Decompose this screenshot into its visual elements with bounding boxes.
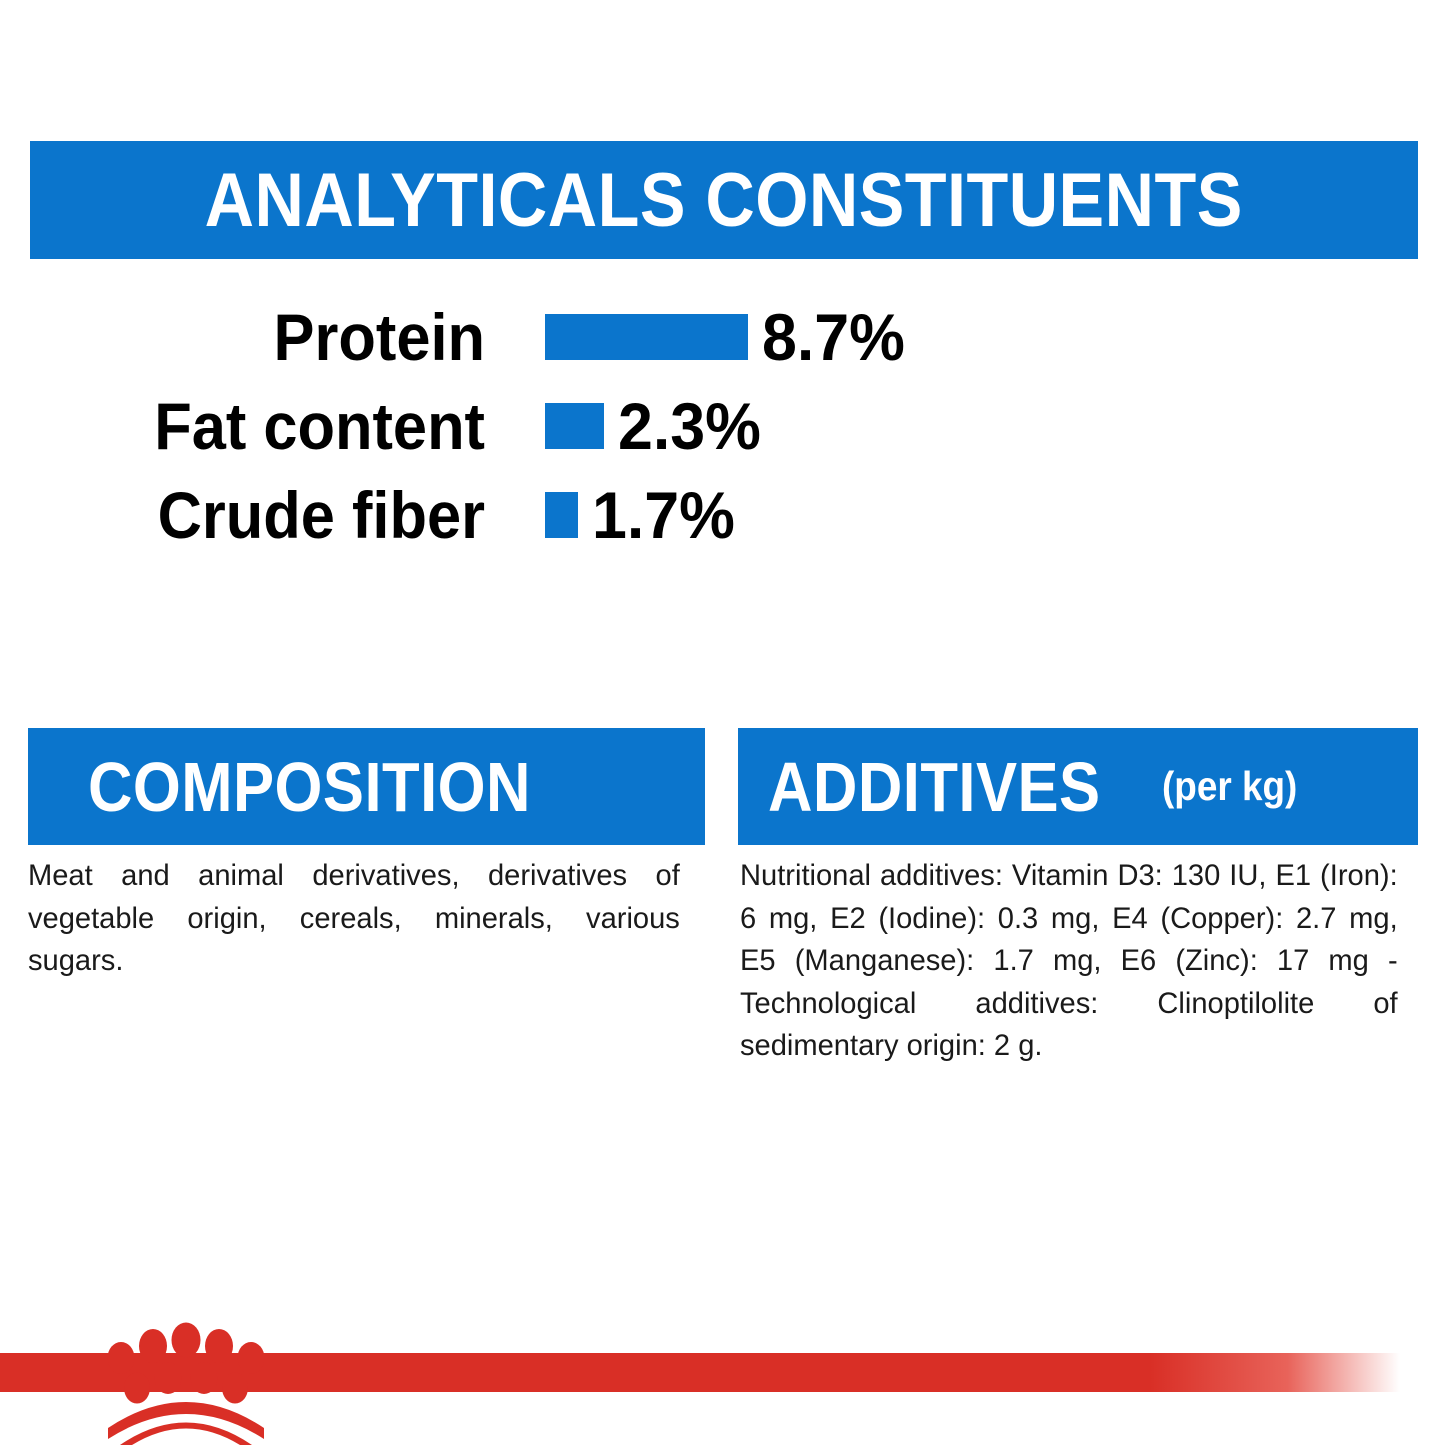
- composition-heading-text: COMPOSITION: [88, 747, 531, 827]
- analyticals-heading-text: ANALYTICALS CONSTITUENTS: [205, 157, 1243, 244]
- composition-body-text: Meat and animal derivatives, derivatives…: [28, 855, 680, 983]
- composition-header: COMPOSITION: [28, 728, 705, 845]
- constituent-bar: [545, 403, 604, 449]
- constituent-bar-group: 2.3%: [545, 393, 768, 459]
- constituent-bar: [545, 492, 578, 538]
- footer-rule-fade: [1150, 1353, 1400, 1392]
- constituent-row-fat-content: Fat content 2.3%: [0, 381, 1445, 470]
- royal-canin-crown-icon: [96, 1320, 276, 1445]
- constituent-value: 2.3%: [618, 393, 761, 459]
- constituent-value: 1.7%: [592, 482, 735, 548]
- analyticals-constituents-header: ANALYTICALS CONSTITUENTS: [30, 141, 1418, 259]
- constituent-row-crude-fiber: Crude fiber 1.7%: [0, 470, 1445, 559]
- analyticals-constituents-chart: Protein 8.7% Fat content 2.3% Crude fibe…: [0, 292, 1445, 559]
- additives-body-text: Nutritional additives: Vitamin D3: 130 I…: [740, 855, 1398, 1068]
- constituent-row-protein: Protein 8.7%: [0, 292, 1445, 381]
- additives-header: ADDITIVES (per kg): [738, 728, 1418, 845]
- constituent-bar-group: 1.7%: [545, 482, 742, 548]
- constituent-bar: [545, 314, 748, 360]
- constituent-label: Fat content: [34, 393, 485, 459]
- additives-heading-unit: (per kg): [1162, 763, 1297, 810]
- constituent-value: 8.7%: [762, 304, 905, 370]
- additives-heading-text: ADDITIVES: [768, 747, 1101, 827]
- constituent-label: Protein: [34, 304, 485, 370]
- constituent-label: Crude fiber: [34, 482, 485, 548]
- constituent-bar-group: 8.7%: [545, 304, 912, 370]
